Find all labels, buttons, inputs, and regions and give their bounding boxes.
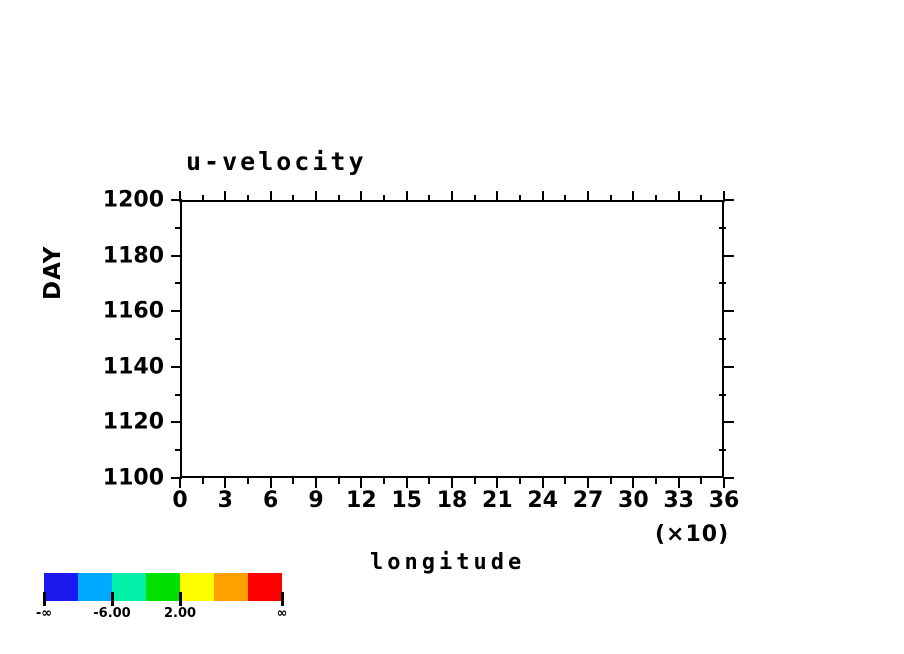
colorbar-tick	[281, 592, 284, 606]
y-tick-major	[171, 310, 182, 312]
x-tick-major	[360, 191, 362, 202]
heatmap-image	[180, 200, 724, 478]
y-tick-minor	[175, 282, 182, 284]
x-tick-major	[678, 191, 680, 202]
x-tick-major	[587, 477, 589, 488]
x-tick-major	[496, 191, 498, 202]
x-tick-minor	[564, 477, 566, 484]
heatmap-plot-area	[180, 200, 724, 478]
x-tick-minor	[292, 195, 294, 202]
x-tick-label: 15	[391, 488, 422, 513]
colorbar-band	[248, 573, 282, 601]
colorbar-tick-label: ∞	[277, 606, 288, 621]
chart-title: u-velocity	[186, 147, 367, 176]
x-tick-minor	[655, 477, 657, 484]
x-tick-label: 6	[263, 488, 278, 513]
x-tick-major	[451, 191, 453, 202]
x-tick-minor	[610, 477, 612, 484]
x-tick-label: 3	[218, 488, 233, 513]
x-tick-major	[406, 191, 408, 202]
x-tick-major	[542, 191, 544, 202]
x-tick-label: 21	[482, 488, 513, 513]
y-tick-major	[723, 310, 734, 312]
colorbar-tick-label: 2.00	[164, 606, 196, 621]
x-tick-label: 27	[573, 488, 604, 513]
x-tick-minor	[338, 195, 340, 202]
y-tick-major	[723, 199, 734, 201]
x-tick-major	[360, 477, 362, 488]
x-tick-major	[315, 191, 317, 202]
x-tick-minor	[247, 195, 249, 202]
colorbar-band	[78, 573, 112, 601]
x-tick-major	[587, 191, 589, 202]
colorbar-tick	[179, 592, 182, 606]
x-tick-minor	[247, 477, 249, 484]
colorbar-tick-label: -6.00	[93, 606, 130, 621]
x-tick-major	[270, 191, 272, 202]
y-tick-major	[171, 421, 182, 423]
y-tick-minor	[175, 338, 182, 340]
y-tick-major	[171, 255, 182, 257]
y-tick-label: 1120	[60, 410, 164, 435]
x-tick-major	[224, 477, 226, 488]
x-tick-label: 0	[172, 488, 187, 513]
y-tick-minor	[175, 227, 182, 229]
y-tick-major	[171, 366, 182, 368]
y-tick-minor	[719, 338, 726, 340]
y-tick-label: 1160	[60, 299, 164, 324]
x-tick-minor	[519, 195, 521, 202]
colorbar-band	[180, 573, 214, 601]
colorbar-band	[112, 573, 146, 601]
x-tick-minor	[700, 195, 702, 202]
x-tick-minor	[202, 477, 204, 484]
x-tick-major	[270, 477, 272, 488]
x-tick-major	[496, 477, 498, 488]
y-tick-label: 1180	[60, 243, 164, 268]
x-tick-minor	[610, 195, 612, 202]
y-axis-title: DAY	[40, 246, 66, 300]
colorbar	[44, 573, 282, 601]
x-tick-minor	[338, 477, 340, 484]
y-tick-major	[171, 199, 182, 201]
y-tick-major	[723, 255, 734, 257]
x-tick-minor	[564, 195, 566, 202]
x-tick-major	[632, 477, 634, 488]
colorbar-tick	[111, 592, 114, 606]
y-tick-major	[723, 366, 734, 368]
x-tick-minor	[383, 195, 385, 202]
y-tick-major	[723, 477, 734, 479]
colorbar-tick	[43, 592, 46, 606]
x-tick-minor	[292, 477, 294, 484]
y-tick-minor	[719, 449, 726, 451]
x-tick-minor	[428, 477, 430, 484]
x-tick-major	[678, 477, 680, 488]
y-tick-major	[723, 421, 734, 423]
x-tick-minor	[474, 477, 476, 484]
x-tick-label: 12	[346, 488, 377, 513]
x-tick-minor	[428, 195, 430, 202]
y-tick-minor	[719, 227, 726, 229]
x-axis-title: longitude	[370, 550, 525, 575]
x-tick-minor	[383, 477, 385, 484]
x-axis-multiplier: (×10)	[655, 522, 729, 547]
x-tick-minor	[474, 195, 476, 202]
x-tick-major	[451, 477, 453, 488]
colorbar-tick-label: -∞	[36, 606, 52, 621]
y-tick-minor	[175, 394, 182, 396]
y-tick-minor	[719, 394, 726, 396]
x-tick-label: 24	[527, 488, 558, 513]
y-tick-major	[171, 477, 182, 479]
y-tick-label: 1200	[60, 188, 164, 213]
colorbar-band	[146, 573, 180, 601]
x-tick-major	[542, 477, 544, 488]
x-tick-label: 36	[709, 488, 740, 513]
x-tick-minor	[700, 477, 702, 484]
x-tick-label: 30	[618, 488, 649, 513]
x-tick-minor	[519, 477, 521, 484]
x-tick-label: 33	[663, 488, 694, 513]
figure-canvas: u-velocity 0369121518212427303336 110011…	[0, 0, 904, 654]
x-tick-label: 9	[308, 488, 323, 513]
x-tick-minor	[202, 195, 204, 202]
y-tick-minor	[175, 449, 182, 451]
x-tick-minor	[655, 195, 657, 202]
y-tick-minor	[719, 282, 726, 284]
colorbar-band	[44, 573, 78, 601]
x-tick-major	[406, 477, 408, 488]
y-tick-label: 1140	[60, 354, 164, 379]
colorbar-band	[214, 573, 248, 601]
x-tick-major	[632, 191, 634, 202]
x-tick-major	[224, 191, 226, 202]
y-tick-label: 1100	[60, 466, 164, 491]
x-tick-major	[315, 477, 317, 488]
x-tick-label: 18	[437, 488, 468, 513]
